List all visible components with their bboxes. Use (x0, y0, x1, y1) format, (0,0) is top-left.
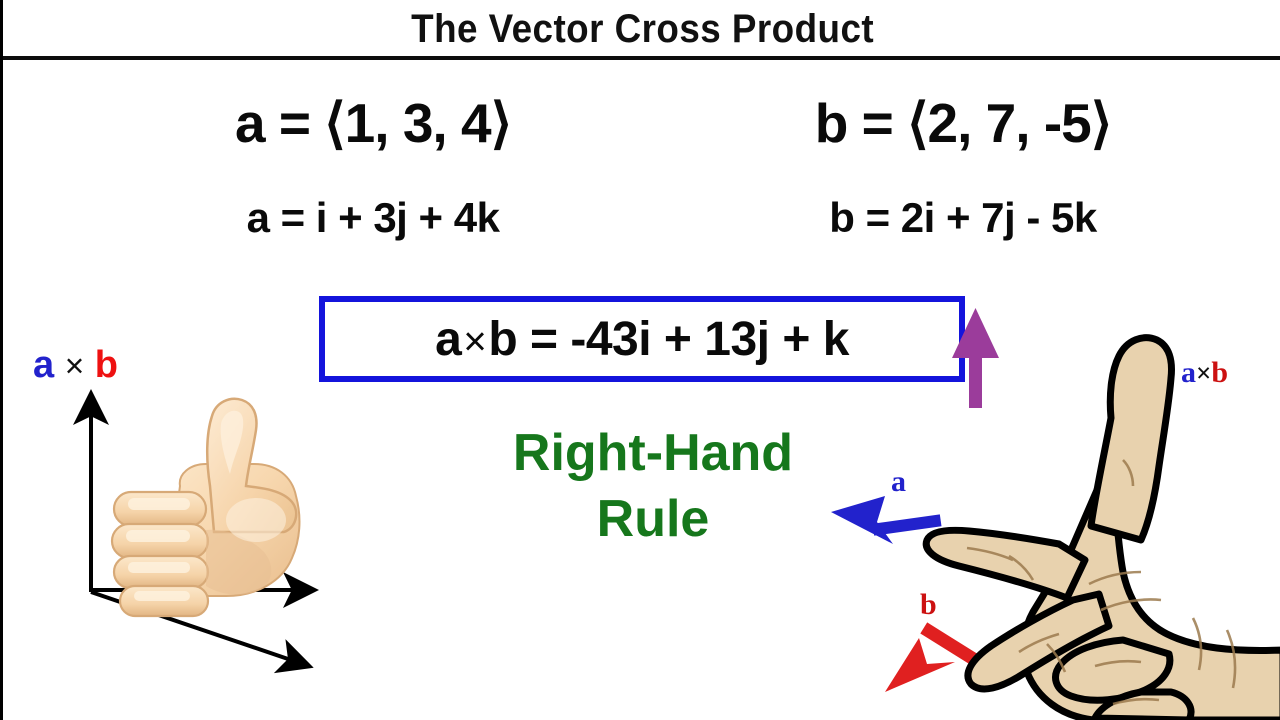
right-label-operand-a: a (1181, 356, 1196, 389)
right-cross-product-label: a×b (1181, 356, 1228, 390)
title-divider (3, 56, 1280, 60)
folded-fingers (112, 492, 208, 616)
hand-index-finger (926, 530, 1085, 598)
caption-line-2: Rule (423, 486, 883, 552)
hand-thumb (1091, 338, 1171, 540)
equation-vector-a-unit: a = i + 3j + 4k (113, 192, 633, 244)
right-hand-rule-caption: Right-Hand Rule (423, 420, 883, 552)
left-axes-diagram: a × b (13, 340, 403, 710)
right-arrow-label-a: a (891, 465, 906, 499)
right-label-operand-b: b (1211, 356, 1228, 389)
right-cross-symbol-icon: × (1196, 358, 1211, 388)
result-operand-a: a (435, 313, 461, 366)
palm-highlight (226, 498, 286, 542)
cross-product-result-text: a×b = -43i + 13j + k (435, 312, 849, 367)
equation-vector-b-unit: b = 2i + 7j - 5k (703, 192, 1223, 244)
cross-product-arrow-purple (952, 308, 999, 408)
right-arrow-label-b: b (920, 588, 937, 622)
equation-vector-b-component: b = ⟨2, 7, -5⟩ (703, 92, 1223, 154)
title-bar: The Vector Cross Product (3, 0, 1280, 58)
caption-line-1: Right-Hand (423, 420, 883, 486)
result-operand-b: b (488, 313, 517, 366)
page-title: The Vector Cross Product (412, 7, 875, 52)
equation-vector-a-component: a = ⟨1, 3, 4⟩ (113, 92, 633, 154)
result-right-hand-side: = -43i + 13j + k (530, 313, 849, 366)
thumbs-up-icon (106, 390, 336, 630)
slide-canvas: The Vector Cross Product a = ⟨1, 3, 4⟩ a… (0, 0, 1280, 720)
cross-symbol-icon: × (461, 318, 488, 364)
